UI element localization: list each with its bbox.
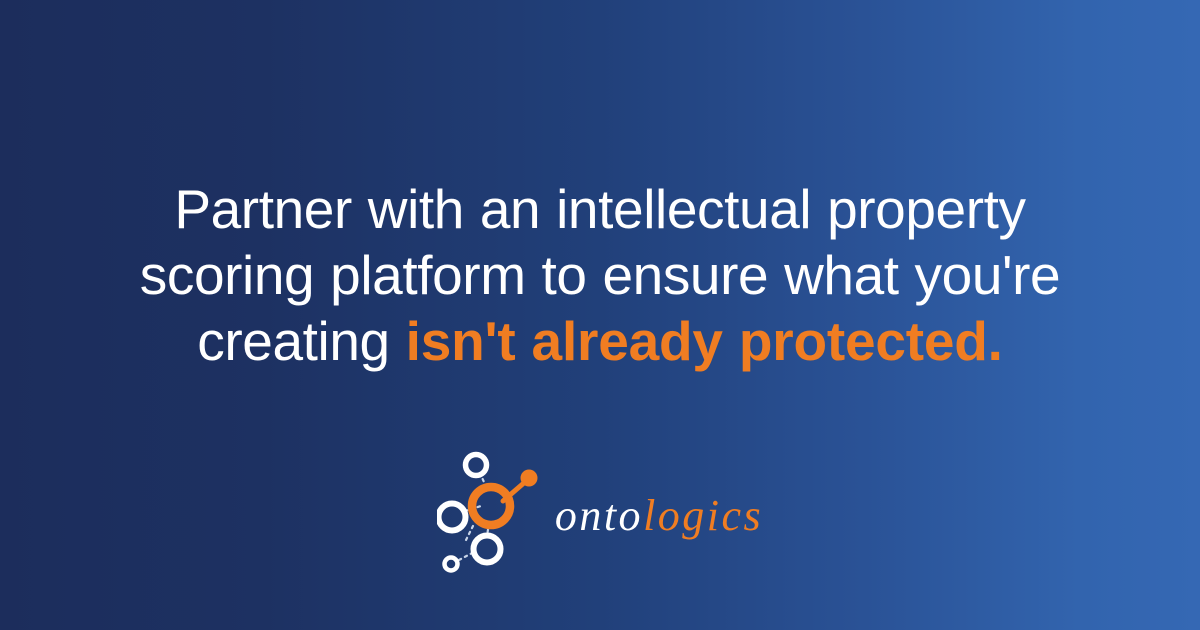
wordmark-part-onto: onto	[555, 491, 643, 540]
ontologics-node-graph-icon	[437, 444, 549, 576]
logo-lockup: ontologics	[0, 444, 1200, 576]
node-ring-bottom	[473, 536, 500, 563]
headline-line-2: scoring platform to ensure what you're	[70, 242, 1130, 308]
node-ring-small	[444, 558, 457, 571]
headline: Partner with an intellectual property sc…	[70, 176, 1130, 374]
node-ring-left	[438, 504, 465, 531]
ontologics-wordmark: ontologics	[555, 494, 763, 538]
headline-line-1: Partner with an intellectual property	[70, 176, 1130, 242]
headline-line-3-plain: creating	[197, 310, 405, 372]
headline-line-3: creating isn't already protected.	[70, 308, 1130, 374]
node-ring-top	[465, 455, 486, 476]
headline-accent-phrase: isn't already protected.	[406, 310, 1003, 372]
node-dot-accent	[520, 470, 537, 487]
social-card: Partner with an intellectual property sc…	[0, 0, 1200, 630]
wordmark-part-logics: logics	[643, 491, 763, 540]
